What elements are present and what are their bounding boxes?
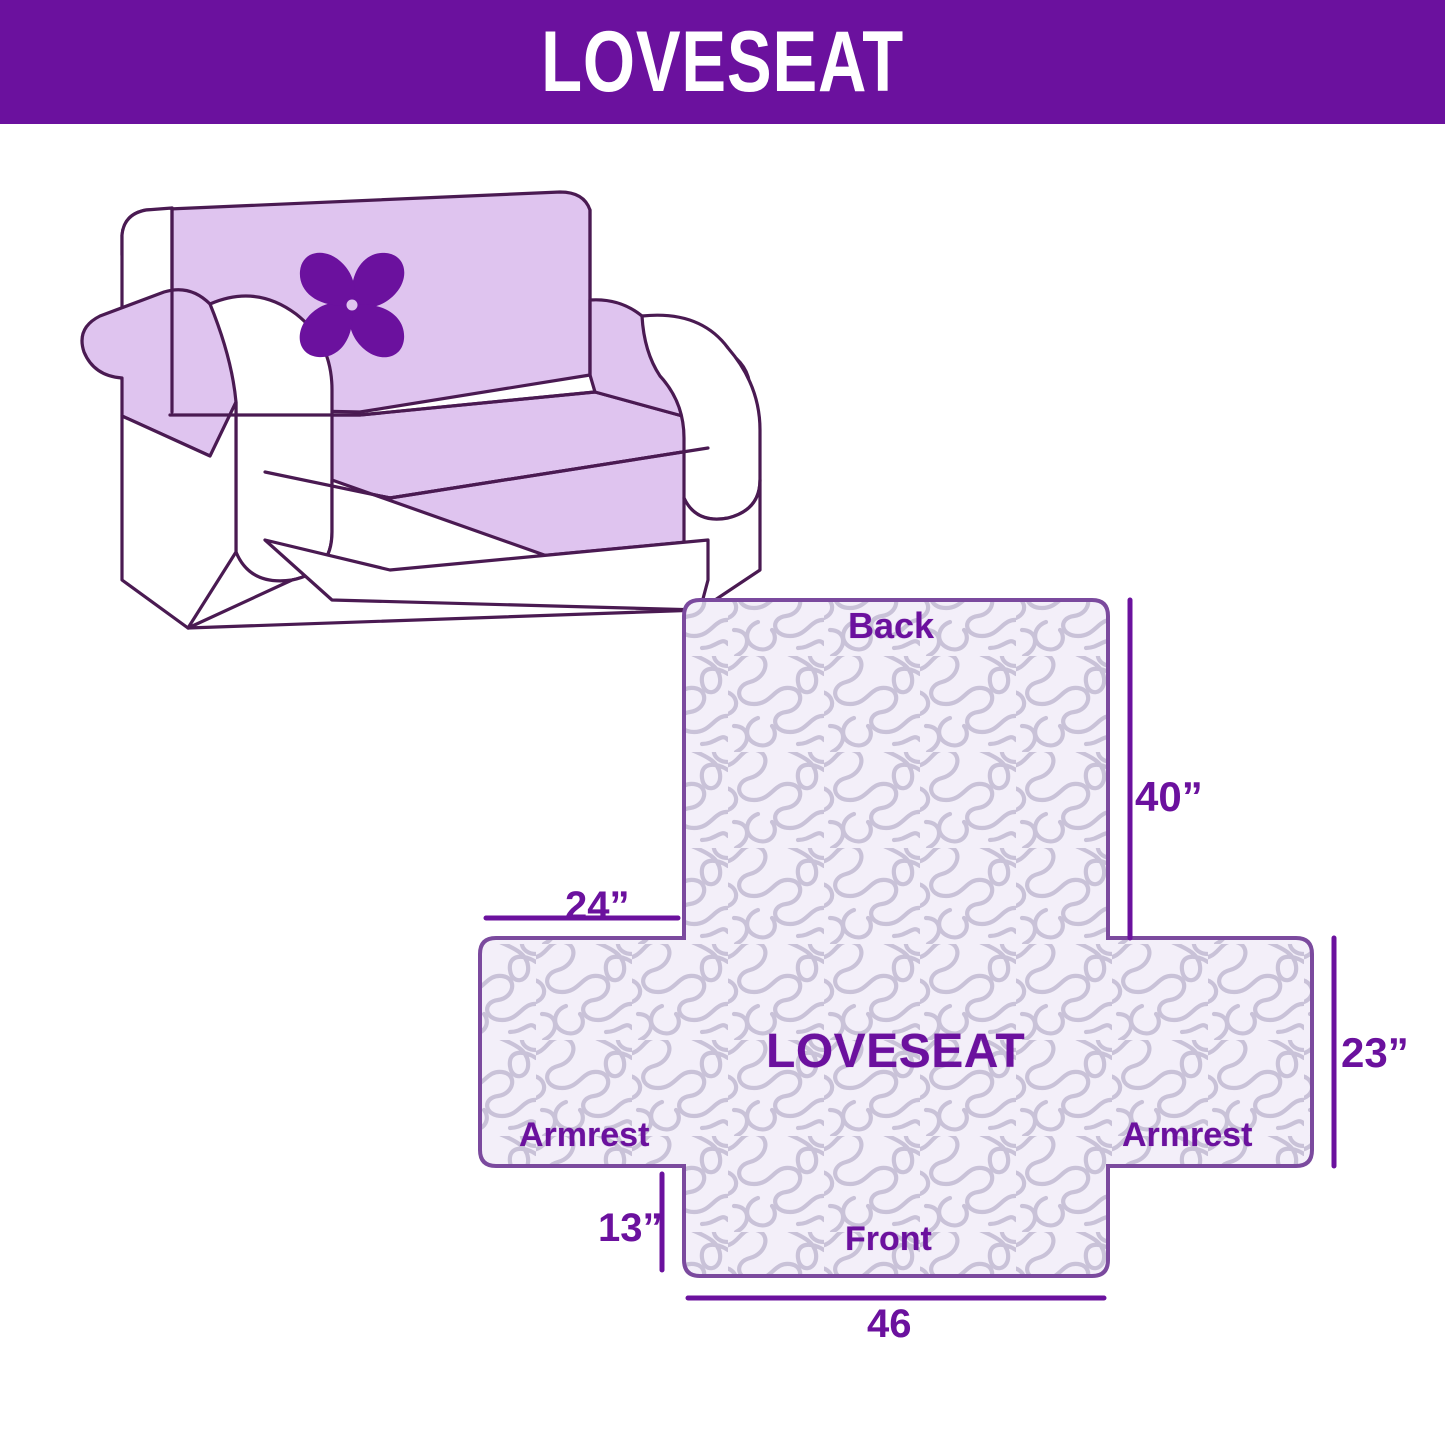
panel-label-front: Front <box>845 1222 932 1256</box>
panel-label-armrest-left: Armrest <box>519 1118 649 1152</box>
pattern-diagram-svg <box>440 560 1440 1390</box>
dimension-label-total-width: 46 <box>867 1304 912 1344</box>
dimension-label-back-height: 40” <box>1135 776 1203 818</box>
dimension-label-seat-depth: 23” <box>1341 1032 1409 1074</box>
panel-label-back: Back <box>848 608 934 644</box>
cover-outline <box>480 600 1312 1276</box>
dimension-label-back-width: 24” <box>565 886 630 926</box>
product-spec-sheet: LOVESEAT <box>0 0 1445 1445</box>
page-title: LOVESEAT <box>541 19 904 105</box>
cover-pattern-diagram <box>440 560 1440 1390</box>
panel-label-armrest-right: Armrest <box>1122 1118 1252 1152</box>
dimension-label-front-drop: 13” <box>598 1208 663 1248</box>
panel-label-center: LOVESEAT <box>766 1028 1025 1076</box>
header-banner: LOVESEAT <box>0 0 1445 124</box>
